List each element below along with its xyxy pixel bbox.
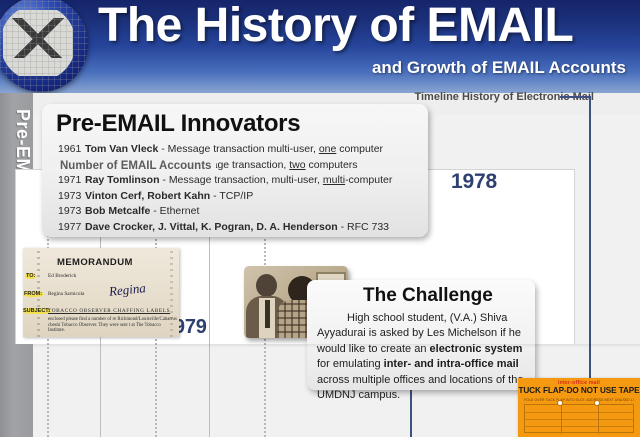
memo-subject-value: TOBACCO OBSERVER CHAFFING LABELS bbox=[48, 308, 170, 314]
challenge-bold-2: inter- and intra-office mail bbox=[384, 358, 519, 370]
innovator-row: 1971Ray Tomlinson - Message transaction,… bbox=[58, 173, 424, 189]
memo-to-label: TO: bbox=[25, 273, 36, 279]
innovator-desc-pre: - RFC 733 bbox=[338, 221, 389, 233]
memo-to-value: Ed Broderick bbox=[48, 273, 76, 279]
innovator-year: 1971 bbox=[58, 173, 85, 189]
page-header: The History of EMAIL and Growth of EMAIL… bbox=[0, 0, 640, 93]
innovator-row: 1973Bob Metcalfe - Ethernet bbox=[58, 204, 424, 220]
challenge-text-2: for emulating bbox=[317, 358, 384, 370]
envelope-hole-2 bbox=[594, 400, 600, 406]
envelope-main-text: TUCK FLAP-DO NOT USE TAPE bbox=[518, 386, 640, 395]
innovator-row: 1977Dave Crocker, J. Vittal, K. Pogran, … bbox=[58, 220, 424, 236]
challenge-text-3: across multiple offices and locations of… bbox=[317, 374, 523, 401]
panel-bottom-sheen bbox=[33, 344, 640, 348]
memo-subject-label: SUBJECT: bbox=[23, 308, 51, 314]
innovator-name: Vinton Cerf, Robert Kahn bbox=[85, 190, 210, 202]
photo-person-1-tie bbox=[265, 300, 270, 328]
innovator-desc-pre: - Message transaction, multi-user, bbox=[159, 174, 322, 186]
pre-email-heading: Pre-EMAIL Innovators bbox=[56, 110, 300, 138]
envelope-rule-line bbox=[525, 426, 633, 427]
memo-from-label: FROM: bbox=[23, 291, 43, 297]
memo-from-value: Regina Sarnicola bbox=[48, 291, 84, 297]
envelope-rule-line bbox=[525, 412, 633, 413]
poster-root: The History of EMAIL and Growth of EMAIL… bbox=[0, 0, 640, 437]
memo-title: MEMORANDUM bbox=[57, 257, 133, 268]
logo-globe-grid bbox=[0, 0, 88, 92]
innovator-desc-post: computers bbox=[306, 159, 358, 171]
innovators-list: 1961Tom Van Vleck - Message transaction … bbox=[58, 142, 424, 236]
memo-body-text: enclosed please find a number of re Rich… bbox=[48, 317, 178, 334]
photo-person-1-head bbox=[256, 274, 277, 297]
year-marker-1978: 1978 bbox=[451, 170, 497, 194]
innovator-desc-pre: - Ethernet bbox=[150, 205, 199, 217]
challenge-body: High school student, (V.A.) Shiva Ayyadu… bbox=[317, 311, 530, 403]
innovator-year: 1961 bbox=[58, 142, 85, 158]
chart-title: Number of EMAIL Accounts bbox=[55, 160, 216, 172]
innovator-desc-post: -computer bbox=[345, 174, 392, 186]
innovator-row: 1961Tom Van Vleck - Message transaction … bbox=[58, 142, 424, 158]
innovator-emphasis: multi bbox=[323, 174, 345, 186]
page-subtitle: and Growth of EMAIL Accounts bbox=[372, 58, 626, 78]
innovator-name: Dave Crocker, J. Vittal, K. Pogran, D. A… bbox=[85, 221, 338, 233]
envelope-fine-print: FOLD OVER TUCK FLAP INTO SLOT. ADDRESS N… bbox=[524, 398, 634, 402]
envelope-hole-1 bbox=[557, 400, 563, 406]
innovator-row: 1973Vinton Cerf, Robert Kahn - TCP/IP bbox=[58, 189, 424, 205]
memo-signature: Regina bbox=[108, 280, 146, 300]
page-title: The History of EMAIL bbox=[98, 0, 573, 53]
memorandum-scan: MEMORANDUM TO: Ed Broderick FROM: Regina… bbox=[23, 248, 179, 337]
innovator-desc-post: computer bbox=[336, 143, 383, 155]
innovator-name: Bob Metcalfe bbox=[85, 205, 150, 217]
innovator-emphasis: one bbox=[319, 143, 337, 155]
innovator-year: 1973 bbox=[58, 204, 85, 220]
inter-office-mail-envelope: inter-office mail TUCK FLAP-DO NOT USE T… bbox=[518, 378, 640, 437]
the-challenge-card: The Challenge High school student, (V.A.… bbox=[307, 280, 535, 390]
envelope-rule-line bbox=[525, 419, 633, 420]
challenge-heading: The Challenge bbox=[363, 285, 493, 307]
timeline-connector-top bbox=[560, 96, 591, 98]
innovator-desc-pre: - Message transaction multi-user, bbox=[158, 143, 318, 155]
innovator-year: 1973 bbox=[58, 189, 85, 205]
innovator-emphasis: two bbox=[289, 159, 305, 171]
innovator-desc-pre: - TCP/IP bbox=[210, 190, 253, 202]
timeline-connector-right-vertical bbox=[589, 96, 591, 378]
innovator-name: Ray Tomlinson bbox=[85, 174, 159, 186]
innovator-year: 1977 bbox=[58, 220, 85, 236]
envelope-address-grid bbox=[524, 404, 634, 433]
globe-envelope-logo-icon bbox=[0, 0, 88, 92]
innovator-name: Tom Van Vleck bbox=[85, 143, 158, 155]
